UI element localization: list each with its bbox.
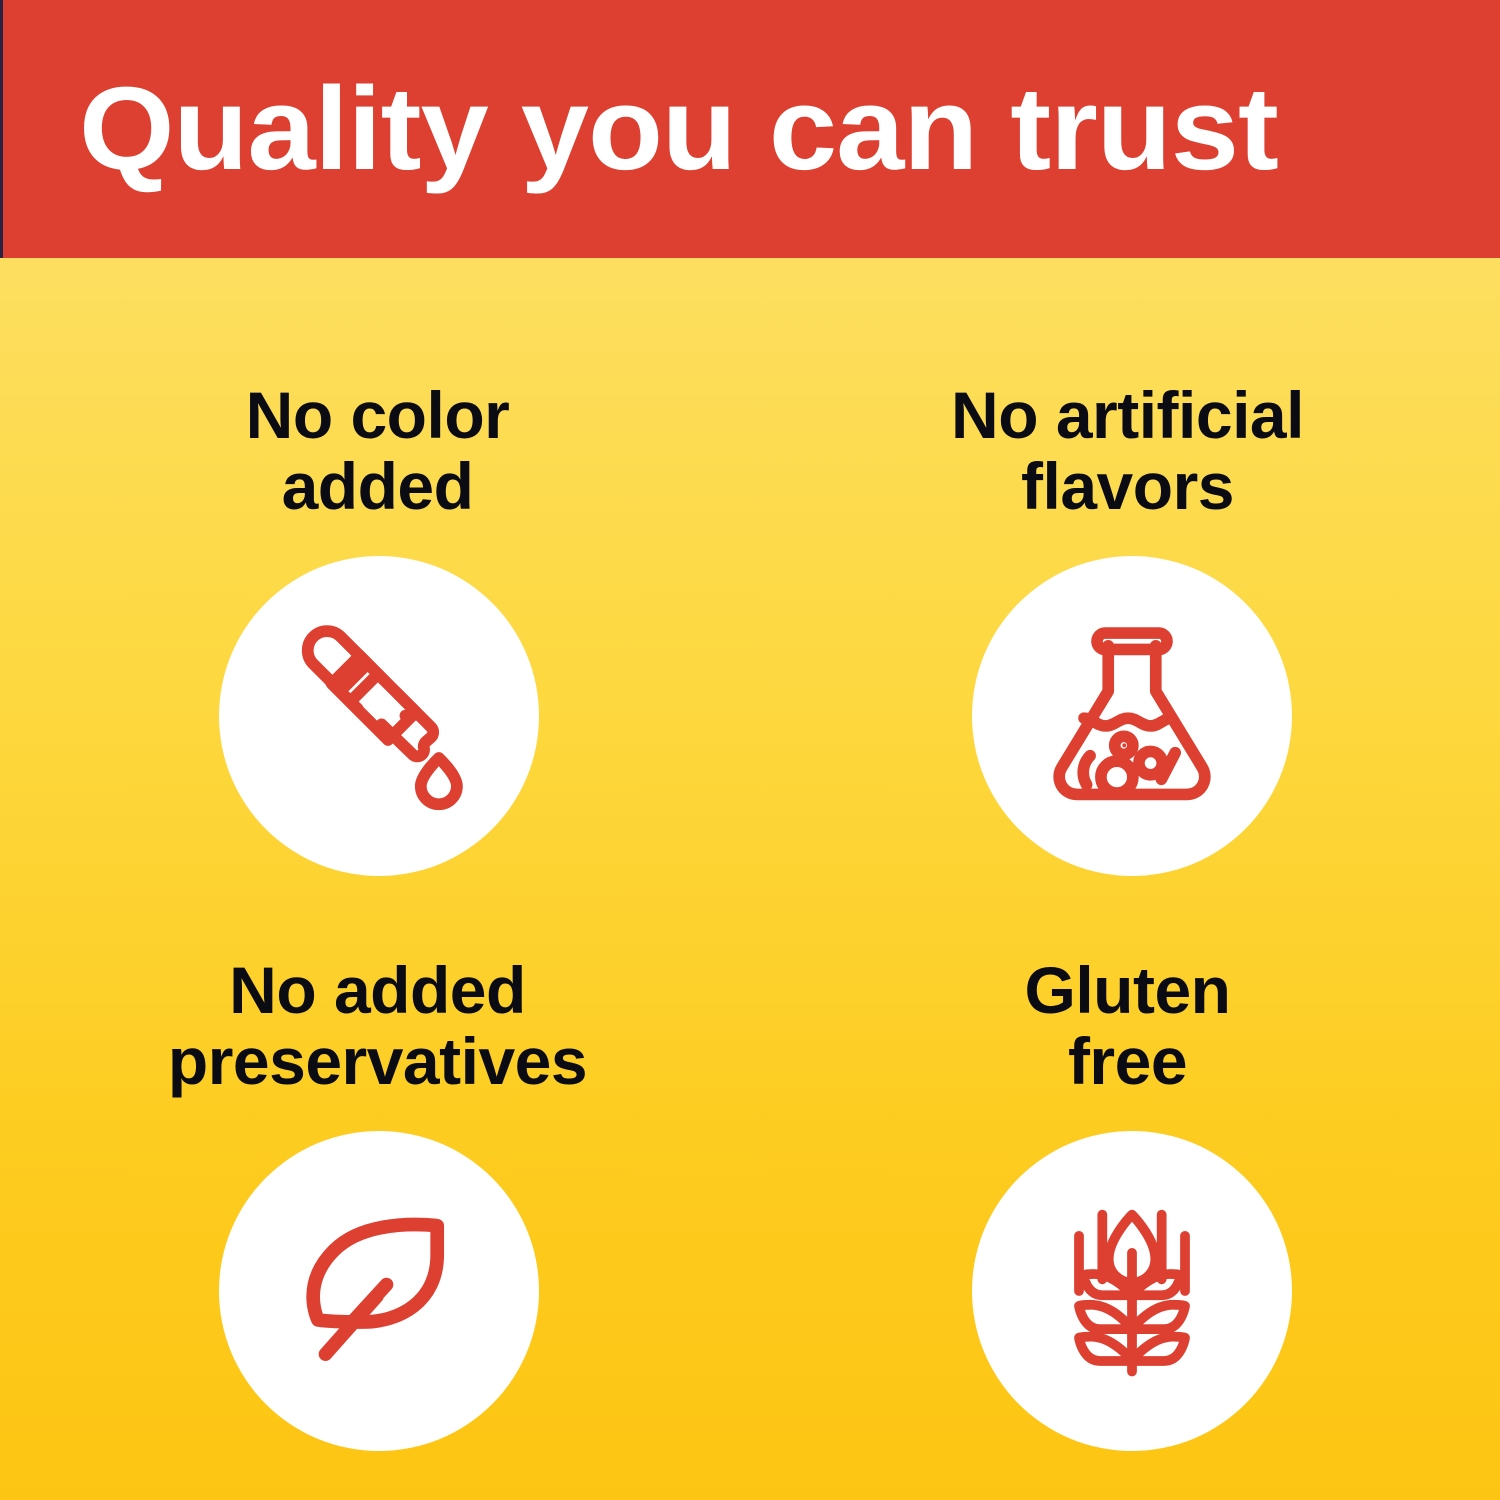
feature-icon-circle-gluten-free bbox=[972, 1131, 1292, 1451]
feature-grid: No color added bbox=[0, 258, 1500, 1500]
leaf-icon bbox=[272, 1184, 486, 1398]
feature-icon-circle-no-artificial-flavors bbox=[972, 556, 1292, 876]
feature-icon-circle-no-color-added bbox=[219, 556, 539, 876]
feature-label-gluten-free: Gluten free bbox=[755, 955, 1500, 1098]
wheat-icon bbox=[1026, 1185, 1238, 1397]
dropper-icon bbox=[274, 611, 484, 821]
feature-cell-no-added-preservatives: No added preservatives bbox=[0, 879, 755, 1500]
feature-icon-circle-no-added-preservatives bbox=[219, 1131, 539, 1451]
feature-cell-no-artificial-flavors: No artificial flavors bbox=[755, 258, 1500, 879]
feature-label-no-color-added: No color added bbox=[0, 380, 755, 523]
quality-infographic: Quality you can trust No color added bbox=[0, 0, 1500, 1500]
feature-cell-gluten-free: Gluten free bbox=[755, 879, 1500, 1500]
page-title: Quality you can trust bbox=[79, 70, 1278, 188]
header-banner: Quality you can trust bbox=[0, 0, 1500, 258]
feature-label-no-artificial-flavors: No artificial flavors bbox=[755, 380, 1500, 523]
feature-cell-no-color-added: No color added bbox=[0, 258, 755, 879]
feature-label-no-added-preservatives: No added preservatives bbox=[0, 955, 755, 1098]
flask-icon bbox=[1024, 608, 1240, 824]
